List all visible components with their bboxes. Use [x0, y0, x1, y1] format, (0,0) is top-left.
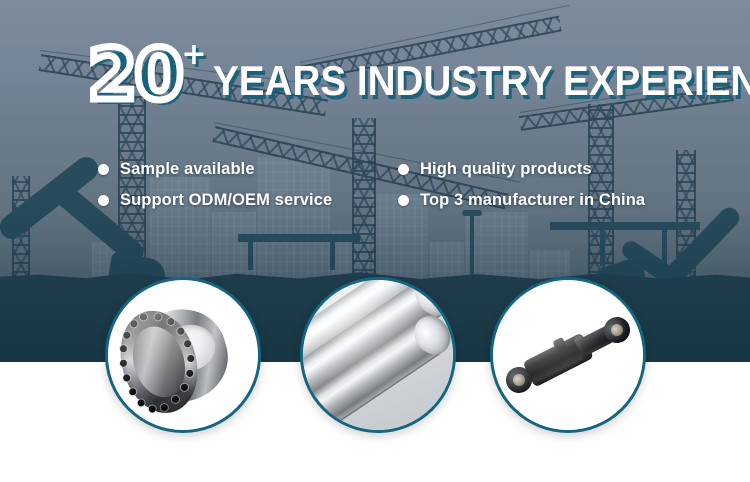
- product-circle-hydraulic-cylinder[interactable]: [490, 277, 646, 433]
- product-circle-flanged-pipe[interactable]: [105, 277, 261, 433]
- product-image-hydraulic-cylinder: [493, 280, 643, 430]
- product-image-steel-bars: [303, 280, 453, 430]
- promo-banner: 20 + YEARS INDUSTRY EXPERIENCE Sample av…: [0, 0, 750, 482]
- product-image-flanged-pipe: [108, 280, 258, 430]
- product-circle-steel-bars[interactable]: [300, 277, 456, 433]
- product-circle-group: [0, 0, 750, 482]
